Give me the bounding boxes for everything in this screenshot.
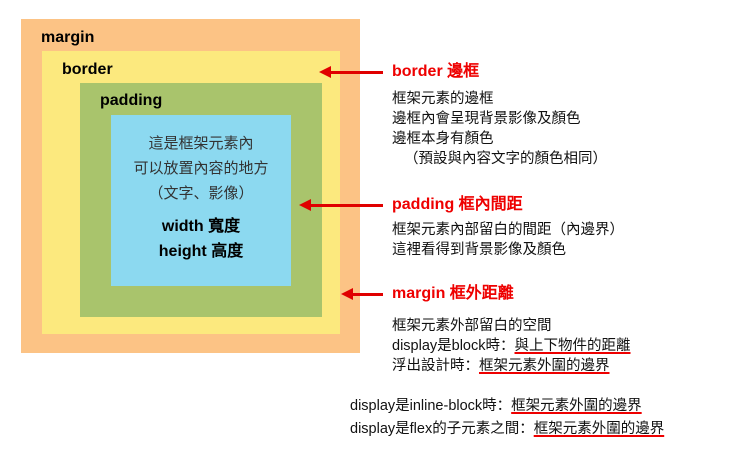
annotation-column: border 邊框 框架元素的邊框 邊框內會呈現背景影像及顏色 邊框本身有顏色 …: [392, 0, 750, 461]
padding-annotation-line-2: 這裡看得到背景影像及顏色: [392, 240, 624, 260]
padding-annotation-body: 框架元素內部留白的間距（內邊界） 這裡看得到背景影像及顏色: [392, 220, 624, 260]
extra-annotation-line-1-underline: 框架元素外圍的邊界: [511, 398, 642, 414]
extra-annotation-line-2-prefix: display是flex的子元素之間：: [350, 421, 534, 437]
margin-annotation-line-3: 浮出設計時：框架元素外圍的邊界: [392, 356, 631, 376]
margin-callout-arrow-icon: [341, 288, 383, 300]
extra-annotation-line-1-prefix: display是inline-block時：: [350, 398, 511, 414]
margin-annotation-title: margin 框外距離: [392, 284, 631, 304]
extra-annotation-line-2-underline: 框架元素外圍的邊界: [534, 421, 665, 437]
padding-annotation-title: padding 框內間距: [392, 195, 624, 215]
border-annotation-line-2: 邊框內會呈現背景影像及顏色: [392, 109, 607, 129]
padding-annotation-block: padding 框內間距 框架元素內部留白的間距（內邊界） 這裡看得到背景影像及…: [392, 195, 624, 260]
border-annotation-title: border 邊框: [392, 62, 607, 82]
border-annotation-line-4: （預設與內容文字的顏色相同）: [392, 149, 607, 169]
extra-annotation-block: display是inline-block時：框架元素外圍的邊界 display是…: [350, 395, 664, 441]
margin-box-label: margin: [41, 29, 94, 47]
extra-annotation-line-2: display是flex的子元素之間：框架元素外圍的邊界: [350, 418, 664, 441]
content-text-line-2: 可以放置內容的地方: [133, 156, 268, 181]
margin-annotation-line-2: display是block時：與上下物件的距離: [392, 336, 631, 356]
extra-annotation-line-1: display是inline-block時：框架元素外圍的邊界: [350, 395, 664, 418]
padding-box-layer: padding 這是框架元素內 可以放置內容的地方 （文字、影像） width …: [80, 83, 322, 317]
margin-box-layer: margin border padding 這是框架元素內 可以放置內容的地方 …: [21, 19, 360, 353]
arrow-shaft: [329, 71, 383, 74]
content-height-label: height 高度: [159, 239, 243, 264]
border-annotation-line-3: 邊框本身有顏色: [392, 129, 607, 149]
border-box-layer: border padding 這是框架元素內 可以放置內容的地方 （文字、影像）…: [42, 51, 340, 334]
margin-annotation-line-3-underline: 框架元素外圍的邊界: [479, 358, 610, 374]
arrow-shaft: [309, 204, 383, 207]
padding-box-label: padding: [100, 92, 162, 110]
arrow-shaft: [351, 293, 383, 296]
border-annotation-line-1: 框架元素的邊框: [392, 89, 607, 109]
border-annotation-block: border 邊框 框架元素的邊框 邊框內會呈現背景影像及顏色 邊框本身有顏色 …: [392, 62, 607, 169]
content-box-layer: 這是框架元素內 可以放置內容的地方 （文字、影像） width 寬度 heigh…: [111, 115, 291, 286]
border-annotation-body: 框架元素的邊框 邊框內會呈現背景影像及顏色 邊框本身有顏色 （預設與內容文字的顏…: [392, 89, 607, 169]
border-callout-arrow-icon: [319, 66, 383, 78]
margin-annotation-block: margin 框外距離 框架元素外部留白的空間 display是block時：與…: [392, 284, 631, 376]
box-model-diagram: margin border padding 這是框架元素內 可以放置內容的地方 …: [21, 19, 360, 353]
padding-callout-arrow-icon: [299, 199, 383, 211]
margin-annotation-line-3-prefix: 浮出設計時：: [392, 358, 479, 374]
border-box-label: border: [62, 61, 113, 79]
margin-annotation-line-2-underline: 與上下物件的距離: [515, 338, 631, 354]
content-width-label: width 寬度: [162, 214, 240, 239]
padding-annotation-line-1: 框架元素內部留白的間距（內邊界）: [392, 220, 624, 240]
content-text-line-3: （文字、影像）: [148, 181, 253, 206]
margin-annotation-line-2-prefix: display是block時：: [392, 338, 515, 354]
margin-annotation-body: 框架元素外部留白的空間 display是block時：與上下物件的距離 浮出設計…: [392, 316, 631, 376]
content-text-line-1: 這是框架元素內: [148, 131, 253, 156]
margin-annotation-line-1: 框架元素外部留白的空間: [392, 316, 631, 336]
